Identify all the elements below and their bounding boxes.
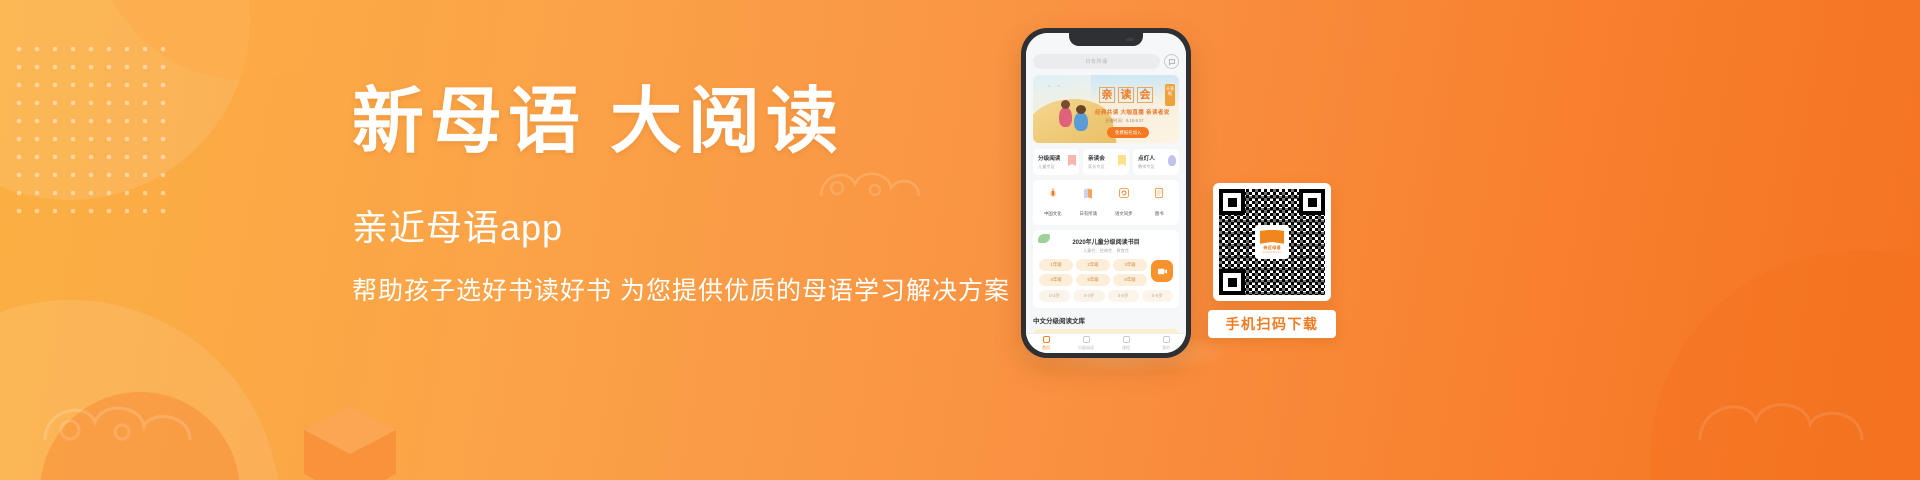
category-card-graded-reading[interactable]: 分级阅读 儿童专区 bbox=[1033, 149, 1079, 175]
play-glyph bbox=[1157, 266, 1168, 277]
tab-mine[interactable]: 我的 bbox=[1146, 336, 1186, 351]
qr-finder-top-left bbox=[1219, 189, 1245, 215]
hero-title-char-1: 亲 bbox=[1099, 87, 1115, 103]
vase-icon bbox=[1047, 187, 1059, 199]
quick-icon-label: 日有所诵 bbox=[1079, 211, 1097, 216]
tab-label: 课程 bbox=[1122, 345, 1130, 350]
user-icon bbox=[1163, 336, 1170, 343]
qr-code-image: 亲近母语 QINJIN MUYU bbox=[1219, 189, 1325, 295]
book-icon bbox=[1083, 336, 1090, 343]
age-chip[interactable]: 0-3岁 bbox=[1039, 290, 1070, 302]
open-book-icon bbox=[1260, 230, 1284, 244]
grade-chip[interactable]: 4年级 bbox=[1039, 274, 1073, 286]
grade-chip[interactable]: 6年级 bbox=[1113, 274, 1147, 286]
tagline: 帮助孩子选好书读好书 为您提供优质的母语学习解决方案 bbox=[352, 275, 1052, 308]
course-icon bbox=[1123, 336, 1130, 343]
category-card-teacher[interactable]: 点灯人 教师专区 bbox=[1133, 149, 1179, 175]
category-card-list: 分级阅读 儿童专区 亲读会 家长专区 点灯人 教师专区 bbox=[1033, 149, 1179, 175]
cloud-motif-icon bbox=[40, 370, 230, 450]
tab-home[interactable]: 首页 bbox=[1026, 336, 1066, 351]
booklist-title: 2020年儿童分级阅读书目 bbox=[1039, 237, 1173, 246]
qr-finder-top-right bbox=[1299, 189, 1325, 215]
hero-title-char-3: 会 bbox=[1137, 87, 1153, 103]
age-chip-row: 0-3岁 3-4岁 4-5岁 5-6岁 bbox=[1039, 290, 1173, 302]
decorative-circle-top-left-2 bbox=[95, 0, 395, 80]
age-chip[interactable]: 3-4岁 bbox=[1073, 290, 1104, 302]
decorative-dot-grid bbox=[10, 40, 170, 220]
qr-center-logo: 亲近母语 QINJIN MUYU bbox=[1255, 225, 1289, 259]
hero-join-button[interactable]: 免费报名加入 bbox=[1107, 127, 1149, 138]
grade-chip-group: 1年级 2年级 3年级 4年级 5年级 6年级 bbox=[1039, 259, 1147, 289]
app-tabbar: 首页 分级阅读 课程 我的 bbox=[1026, 333, 1186, 353]
grade-row-2: 4年级 5年级 6年级 bbox=[1039, 274, 1147, 286]
hero-banner-card[interactable]: ⌃ ⌃ 亲 读 会 开营啦 经典共读 大咖直播 亲读者说 直播时间：9.16-9… bbox=[1033, 75, 1179, 143]
hero-title-char-2: 读 bbox=[1118, 87, 1134, 103]
quick-icon-row: 中国文化 日有所诵 语文同步 bbox=[1033, 180, 1179, 225]
tab-label: 首页 bbox=[1042, 345, 1050, 350]
grade-chip[interactable]: 3年级 bbox=[1113, 259, 1147, 271]
quick-icon-daily-recite[interactable]: 日有所诵 bbox=[1071, 187, 1107, 220]
booklist-grid: 1年级 2年级 3年级 4年级 5年级 6年级 bbox=[1039, 259, 1173, 289]
qr-code-panel: 亲近母语 QINJIN MUYU bbox=[1213, 183, 1331, 301]
quick-icon-textbook-sync[interactable]: 语文同步 bbox=[1106, 187, 1142, 220]
decorative-circle-bottom-left bbox=[0, 300, 280, 480]
cloud-motif-icon-right bbox=[1690, 360, 1890, 450]
quick-icon-label: 图书 bbox=[1155, 211, 1164, 216]
age-chip[interactable]: 4-5岁 bbox=[1108, 290, 1139, 302]
promo-banner: 新母语 大阅读 亲近母语app 帮助孩子选好书读好书 为您提供优质的母语学习解决… bbox=[0, 0, 1920, 480]
video-play-icon[interactable] bbox=[1151, 260, 1173, 282]
app-screen: 日有所诵 ⌃ ⌃ 亲 读 bbox=[1026, 33, 1186, 353]
decorative-circle-top-left bbox=[0, 0, 250, 200]
grade-chip[interactable]: 2年级 bbox=[1076, 259, 1110, 271]
tab-label: 我的 bbox=[1162, 345, 1170, 350]
hero-date: 直播时间：9.16-9.27 bbox=[1105, 118, 1144, 124]
child-illustration-2 bbox=[1074, 112, 1088, 131]
phone-screen-frame: 日有所诵 ⌃ ⌃ 亲 读 bbox=[1026, 33, 1186, 353]
app-search-row: 日有所诵 bbox=[1033, 54, 1179, 69]
decorative-cube bbox=[300, 400, 400, 480]
tab-courses[interactable]: 课程 bbox=[1106, 336, 1146, 351]
home-icon bbox=[1043, 336, 1050, 343]
grade-chip[interactable]: 1年级 bbox=[1039, 259, 1073, 271]
banner-copy: 新母语 大阅读 亲近母语app 帮助孩子选好书读好书 为您提供优质的母语学习解决… bbox=[352, 86, 1052, 308]
grade-row-1: 1年级 2年级 3年级 bbox=[1039, 259, 1147, 271]
decorative-circle-bottom-left-2 bbox=[40, 392, 240, 480]
hero-ribbon: 开营啦 bbox=[1165, 84, 1175, 106]
qr-logo-subtext: QINJIN MUYU bbox=[1263, 251, 1282, 254]
download-button[interactable]: 手机扫码下载 bbox=[1208, 310, 1336, 338]
sync-icon bbox=[1118, 187, 1130, 199]
notebook-icon bbox=[1153, 187, 1165, 199]
quick-icon-label: 语文同步 bbox=[1115, 211, 1133, 216]
phone-mockup: 日有所诵 ⌃ ⌃ 亲 读 bbox=[1021, 28, 1191, 358]
grade-chip[interactable]: 5年级 bbox=[1076, 274, 1110, 286]
booklist-card: 2020年儿童分级阅读书目 儿童性、经典性、教育性 1年级 2年级 3年级 4年… bbox=[1033, 230, 1179, 308]
hero-subtitle: 经典共读 大咖直播 亲读者说 bbox=[1095, 108, 1170, 116]
quick-icon-chinese-culture[interactable]: 中国文化 bbox=[1035, 187, 1071, 220]
qr-finder-bottom-left bbox=[1219, 269, 1245, 295]
page-title: 新母语 大阅读 bbox=[352, 86, 1052, 158]
category-card-parent-club[interactable]: 亲读会 家长专区 bbox=[1083, 149, 1129, 175]
child-illustration-1 bbox=[1059, 107, 1072, 127]
quick-icon-label: 中国文化 bbox=[1044, 211, 1062, 216]
phone-notch bbox=[1069, 33, 1143, 46]
tab-label: 分级阅读 bbox=[1078, 345, 1094, 350]
tab-graded-reading[interactable]: 分级阅读 bbox=[1066, 336, 1106, 351]
birds-icon: ⌃ ⌃ bbox=[1047, 85, 1063, 91]
booklist-subtitle: 儿童性、经典性、教育性 bbox=[1039, 248, 1173, 254]
quick-icon-books[interactable]: 图书 bbox=[1142, 187, 1178, 220]
library-section-title: 中文分级阅读文库 bbox=[1033, 315, 1179, 325]
app-name: 亲近母语app bbox=[352, 206, 1052, 249]
decorative-circle-bottom-right bbox=[1650, 250, 1920, 480]
book-icon bbox=[1082, 187, 1094, 199]
age-chip[interactable]: 5-6岁 bbox=[1142, 290, 1173, 302]
person-icon bbox=[1168, 155, 1176, 166]
chat-icon[interactable] bbox=[1164, 54, 1179, 69]
search-placeholder: 日有所诵 bbox=[1085, 58, 1107, 65]
search-input[interactable]: 日有所诵 bbox=[1033, 54, 1160, 69]
hero-title: 亲 读 会 bbox=[1099, 87, 1153, 103]
